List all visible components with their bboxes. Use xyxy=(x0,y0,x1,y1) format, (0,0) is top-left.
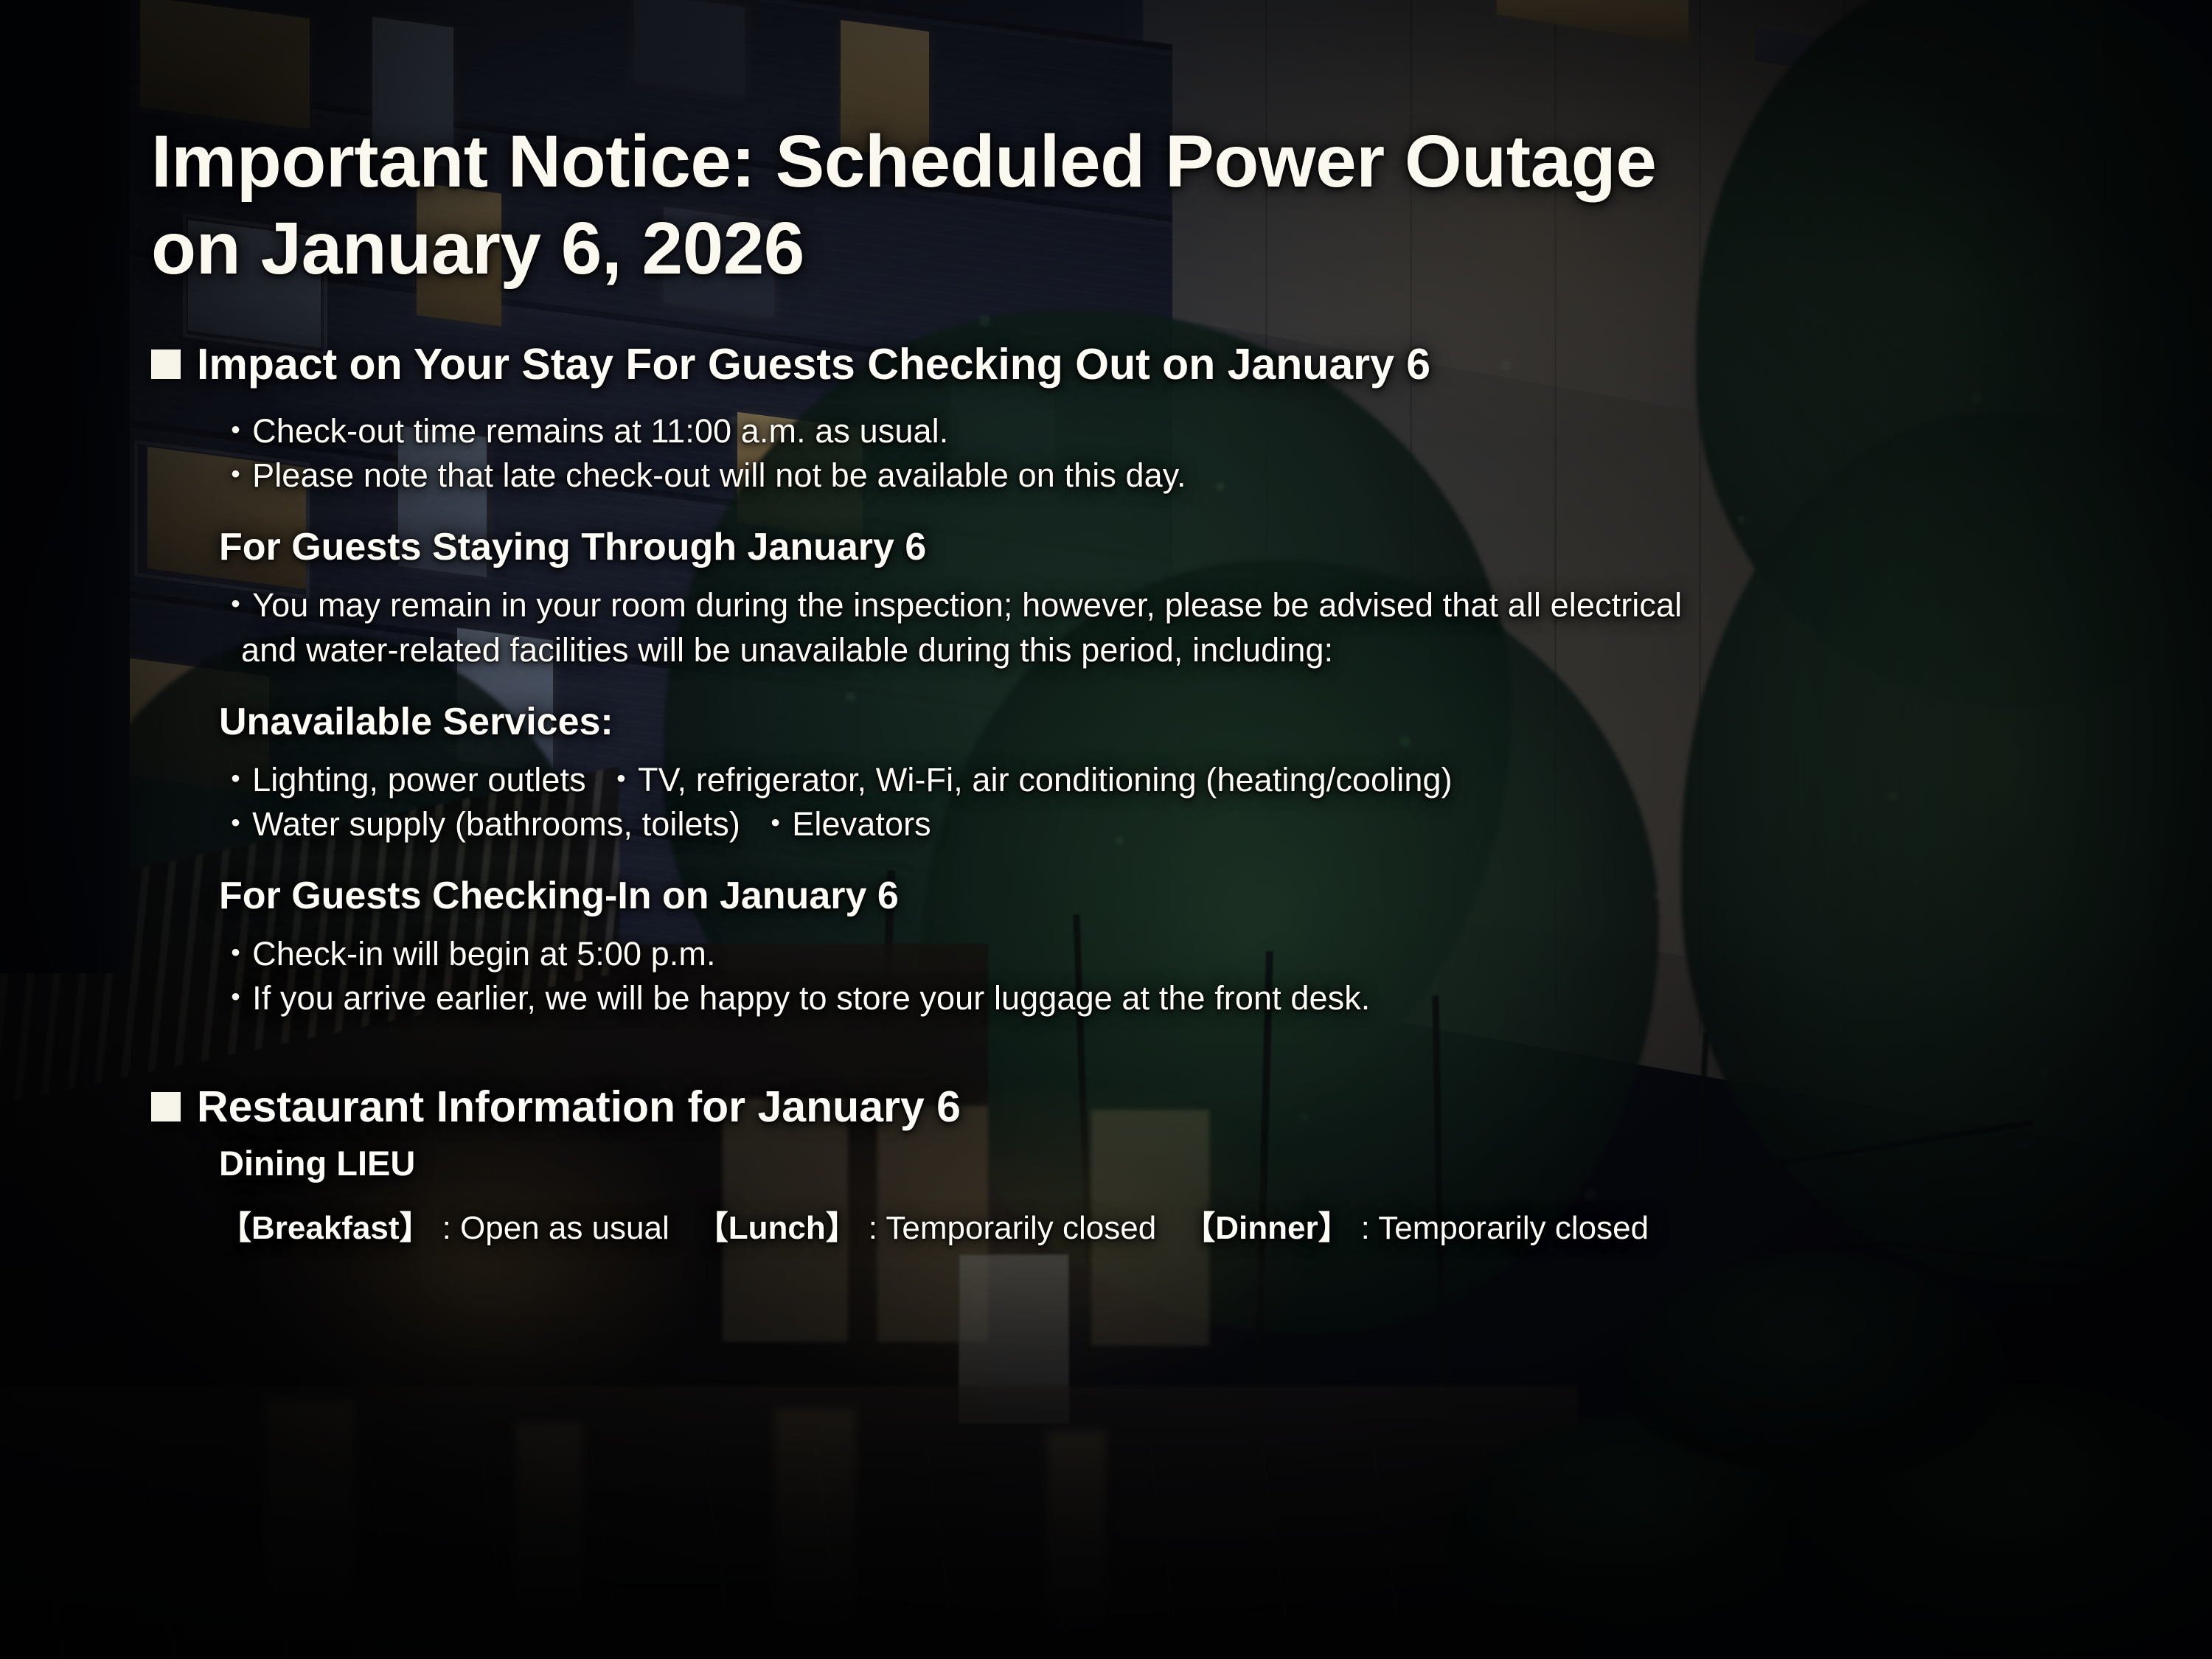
title-line-1: Important Notice: Scheduled Power Outage xyxy=(151,118,2124,205)
filled-square-icon xyxy=(151,349,181,379)
meal-status-lunch: : Temporarily closed xyxy=(869,1208,1156,1248)
subheading-unavailable-services: Unavailable Services: xyxy=(219,700,2124,745)
staying-bullet-list: ・You may remain in your room during the … xyxy=(219,583,2124,672)
meal-status-dinner: : Temporarily closed xyxy=(1361,1208,1649,1248)
subheading-staying-through: For Guests Staying Through January 6 xyxy=(219,526,2124,570)
section-heading-restaurant-label: Restaurant Information for January 6 xyxy=(197,1083,961,1131)
list-item: ・Check-out time remains at 11:00 a.m. as… xyxy=(219,409,2124,453)
section-heading-restaurant: Restaurant Information for January 6 xyxy=(151,1083,2124,1131)
notice-content: Important Notice: Scheduled Power Outage… xyxy=(0,0,2212,1659)
list-item: ・Check-in will begin at 5:00 p.m. xyxy=(219,932,2124,976)
filled-square-icon xyxy=(151,1092,181,1121)
meal-label-breakfast: 【Breakfast】 xyxy=(219,1208,432,1248)
meal-status-breakfast: : Open as usual xyxy=(442,1208,669,1248)
page-title: Important Notice: Scheduled Power Outage… xyxy=(151,118,2124,292)
list-item: ・Lighting, power outlets ・TV, refrigerat… xyxy=(219,758,2124,802)
list-item: ・Please note that late check-out will no… xyxy=(219,453,2124,498)
list-item-continuation: and water-related facilities will be una… xyxy=(219,628,2124,672)
title-line-2: on January 6, 2026 xyxy=(151,205,2124,292)
list-item: ・You may remain in your room during the … xyxy=(219,583,2124,627)
subheading-checking-in: For Guests Checking-In on January 6 xyxy=(219,874,2124,919)
section-heading-impact-label: Impact on Your Stay For Guests Checking … xyxy=(197,341,1430,389)
list-item: ・If you arrive earlier, we will be happy… xyxy=(219,976,2124,1020)
meal-label-dinner: 【Dinner】 xyxy=(1183,1208,1350,1248)
checkin-bullet-list: ・Check-in will begin at 5:00 p.m. ・If yo… xyxy=(219,932,2124,1021)
restaurant-venue-name: Dining LIEU xyxy=(219,1143,2124,1184)
section-heading-impact: Impact on Your Stay For Guests Checking … xyxy=(151,341,2124,389)
impact-bullet-list: ・Check-out time remains at 11:00 a.m. as… xyxy=(219,409,2124,498)
restaurant-hours: 【Breakfast】 : Open as usual 【Lunch】 : Te… xyxy=(219,1208,2124,1248)
meal-label-lunch: 【Lunch】 xyxy=(696,1208,858,1248)
notice-slide: Important Notice: Scheduled Power Outage… xyxy=(0,0,2212,1659)
list-item: ・Water supply (bathrooms, toilets) ・Elev… xyxy=(219,802,2124,846)
unavailable-services-list: ・Lighting, power outlets ・TV, refrigerat… xyxy=(219,758,2124,847)
